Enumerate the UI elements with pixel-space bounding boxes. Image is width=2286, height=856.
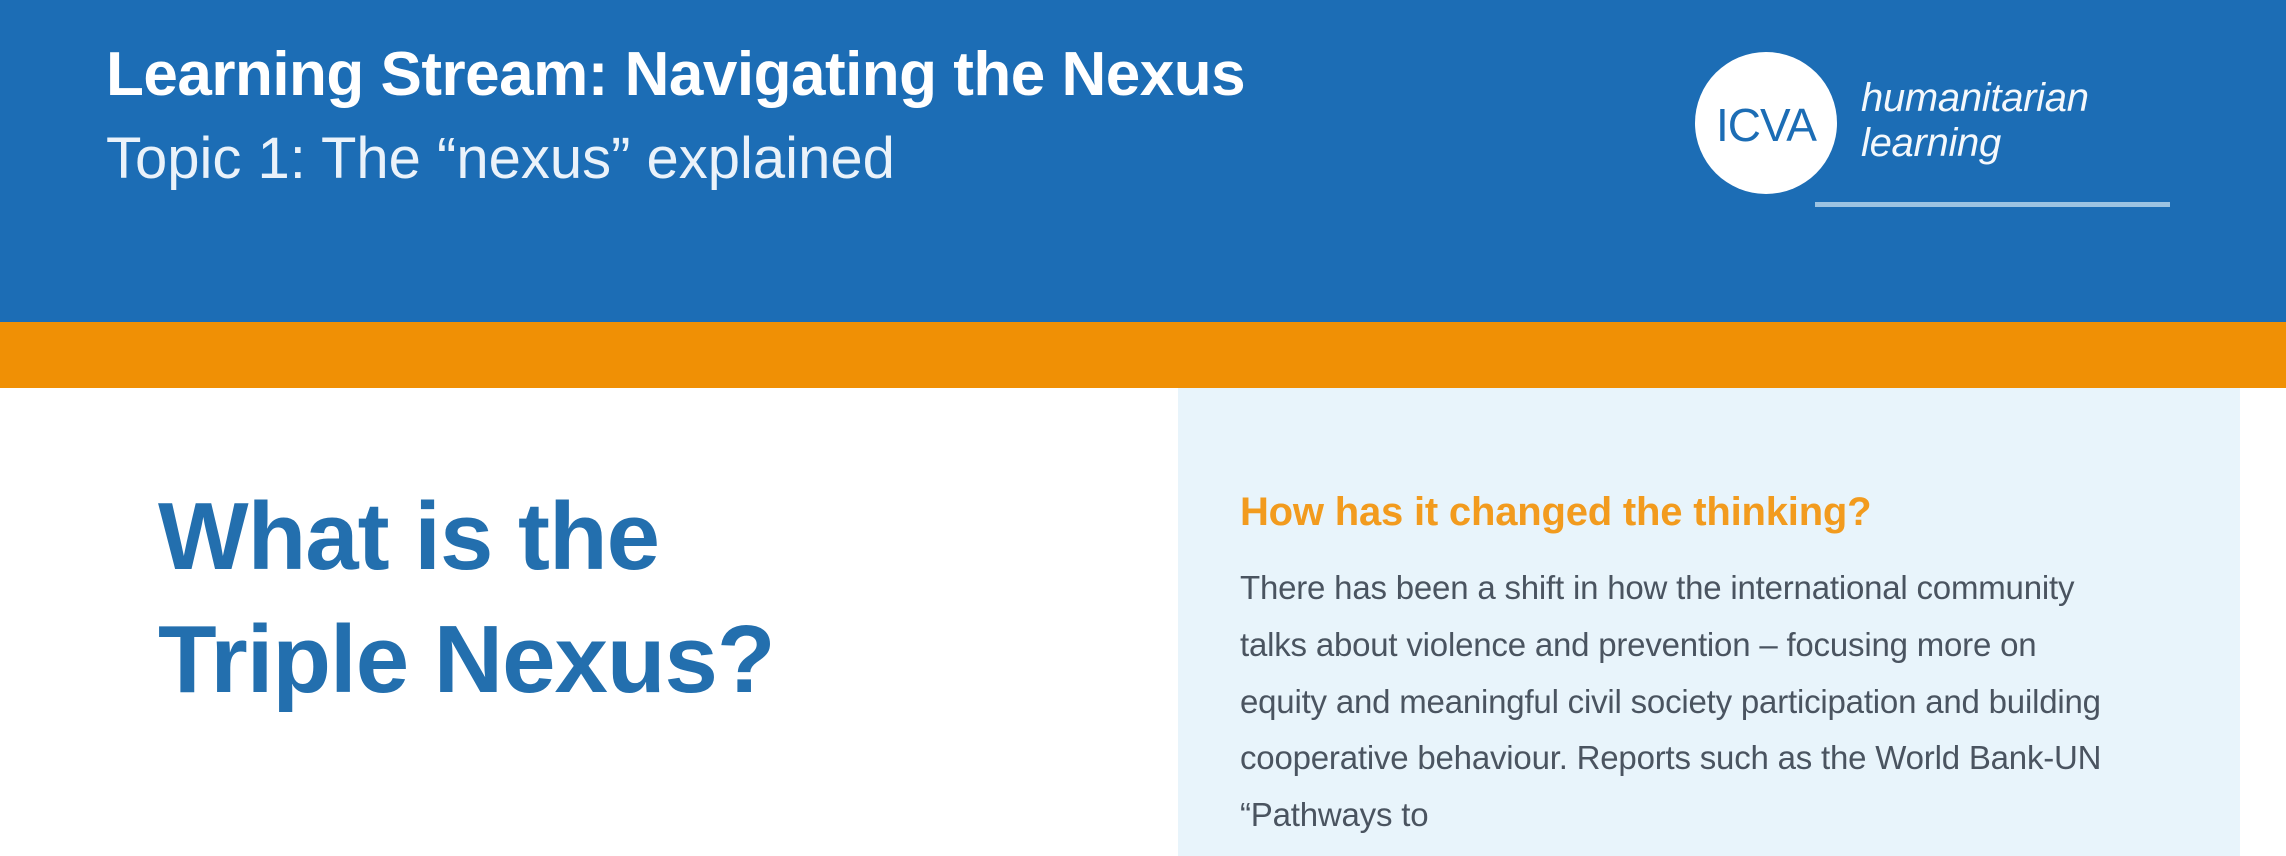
- header-subtitle: Topic 1: The “nexus” explained: [106, 129, 1606, 190]
- left-column: What is the Triple Nexus?: [0, 388, 1178, 856]
- icva-logo-wordmark: ICVA: [1716, 102, 1816, 148]
- icva-logo: ICVA humanitarian learning: [1695, 52, 2175, 212]
- slide: Learning Stream: Navigating the Nexus To…: [0, 0, 2286, 856]
- info-panel-heading: How has it changed the thinking?: [1240, 490, 2180, 534]
- main-question-heading-line1: What is the: [158, 476, 1118, 599]
- icva-logo-underline: [1815, 202, 2170, 207]
- main-question-heading: What is the Triple Nexus?: [158, 476, 1118, 722]
- header-text-block: Learning Stream: Navigating the Nexus To…: [106, 42, 1606, 190]
- orange-accent-bar: [0, 322, 2286, 388]
- icva-logo-tagline: humanitarian learning: [1861, 76, 2089, 166]
- icva-logo-circle-icon: ICVA: [1695, 52, 1837, 194]
- info-panel: How has it changed the thinking? There h…: [1178, 388, 2240, 856]
- content-area: What is the Triple Nexus? How has it cha…: [0, 388, 2286, 856]
- icva-logo-tagline-line1: humanitarian: [1861, 76, 2089, 121]
- info-panel-body-text: There has been a shift in how the intern…: [1240, 560, 2120, 844]
- header-band: Learning Stream: Navigating the Nexus To…: [0, 0, 2286, 322]
- header-title: Learning Stream: Navigating the Nexus: [106, 42, 1606, 107]
- icva-logo-tagline-line2: learning: [1861, 121, 2089, 166]
- main-question-heading-line2: Triple Nexus?: [158, 599, 1118, 722]
